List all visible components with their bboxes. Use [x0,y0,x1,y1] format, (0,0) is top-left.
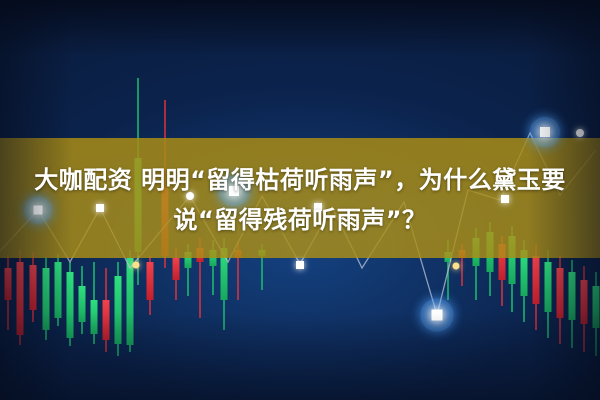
headline: 大咖配资 明明“留得枯荷听雨声”，为什么黛玉要 说“留得残荷听雨声”？ [0,160,600,240]
banner-image: 大咖配资 明明“留得枯荷听雨声”，为什么黛玉要 说“留得残荷听雨声”？ [0,0,600,400]
headline-line-1: 大咖配资 明明“留得枯荷听雨声”，为什么黛玉要 [34,166,565,194]
headline-line-2: 说“留得残荷听雨声”？ [0,200,600,240]
